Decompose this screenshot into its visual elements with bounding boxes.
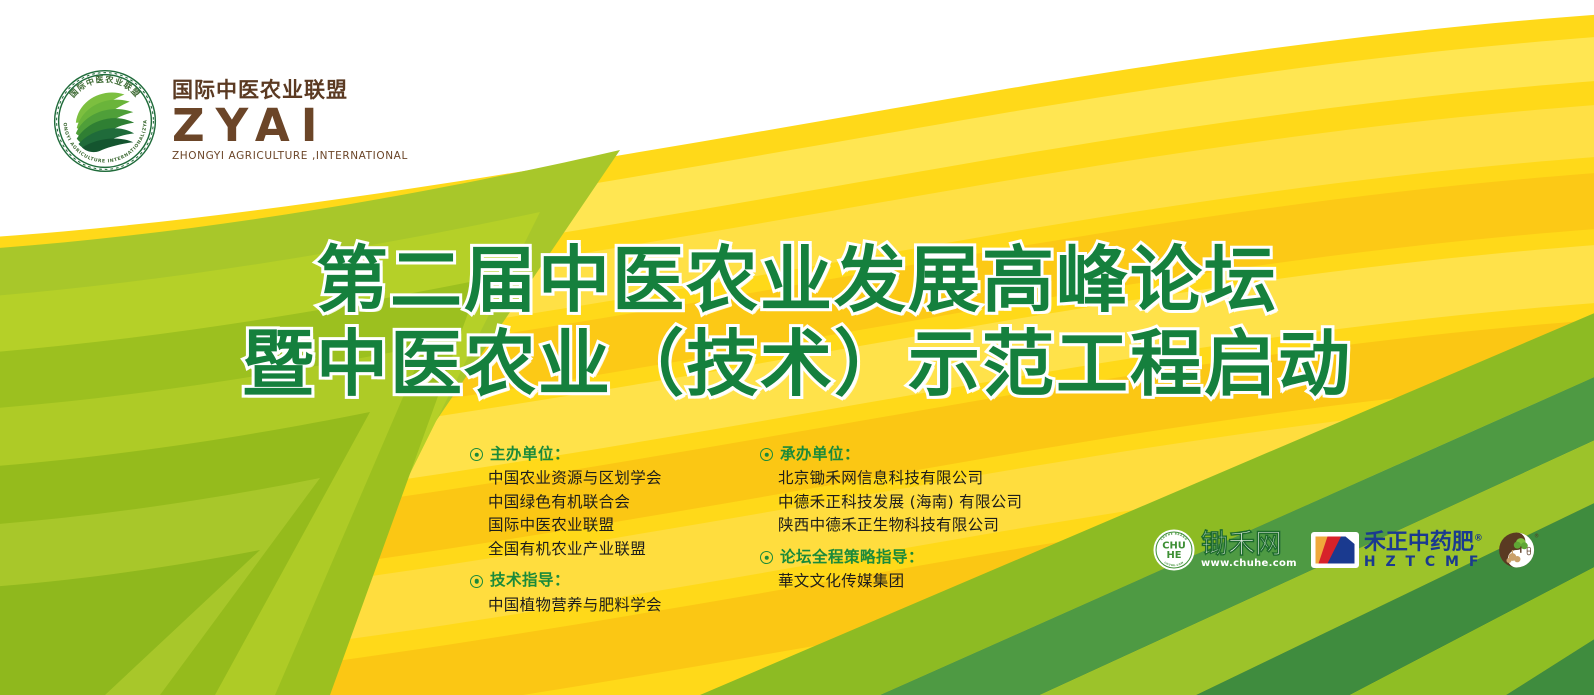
ring-bullet-icon (470, 575, 483, 588)
ring-bullet-icon (760, 448, 773, 461)
hz-z-stripe-mark-icon (1311, 532, 1359, 568)
tree-yinyang-seal-icon: ® (1497, 529, 1539, 571)
svg-text:HE: HE (1166, 550, 1181, 561)
credit-heading: 论坛全程策略指导： (760, 546, 1060, 569)
credit-item: 全国有机农业产业联盟 (488, 538, 720, 562)
zyai-circular-seal-icon: 国际中医农业联盟 ZHONGYI AGRICULTURE INTERNATION… (52, 68, 158, 174)
credit-item-list: 華文文化传媒集团 (778, 570, 1060, 594)
registered-mark-icon: ® (1474, 533, 1483, 543)
credit-item: 国际中医农业联盟 (488, 514, 720, 538)
credit-heading: 主办单位： (470, 443, 720, 466)
hztcmf-wordmark: 禾正中药肥® H Z T C M F (1364, 532, 1483, 569)
credit-item: 中国农业资源与区划学会 (488, 467, 720, 491)
credit-group: 主办单位： 中国农业资源与区划学会 中国绿色有机联合会 国际中医农业联盟 全国有… (470, 443, 720, 561)
credit-heading: 技术指导： (470, 569, 720, 592)
credit-heading-label: 技术指导： (490, 569, 570, 592)
credits-column-right: 承办单位： 北京锄禾网信息科技有限公司 中德禾正科技发展 (海南) 有限公司 陕… (760, 443, 1060, 625)
org-abbr: ZYAI (172, 103, 408, 149)
sponsor-logo-hztcmf: 禾正中药肥® H Z T C M F (1311, 532, 1483, 569)
credit-group: 技术指导： 中国植物营养与肥料学会 (470, 569, 720, 617)
credit-item-list: 中国植物营养与肥料学会 (488, 594, 720, 618)
conference-banner: 国际中医农业联盟 ZHONGYI AGRICULTURE INTERNATION… (0, 0, 1594, 695)
credit-heading-label: 论坛全程策略指导： (780, 546, 924, 569)
org-name-en: ZHONGYI AGRICULTURE ,INTERNATIONAL (172, 151, 408, 162)
organization-logo: 国际中医农业联盟 ZHONGYI AGRICULTURE INTERNATION… (52, 68, 408, 174)
hztcmf-name-cn: 禾正中药肥® (1364, 532, 1483, 554)
credit-heading-label: 承办单位： (780, 443, 860, 466)
sponsor-logo-row: CHU HE CHUHE BRAND CHUHE.COM 锄禾网 www.chu… (1152, 528, 1539, 572)
sponsor-logo-chuhe: CHU HE CHUHE BRAND CHUHE.COM 锄禾网 www.chu… (1152, 528, 1297, 572)
credit-item: 中德禾正科技发展 (海南) 有限公司 (778, 491, 1060, 515)
credit-item: 中国绿色有机联合会 (488, 491, 720, 515)
chuhe-wordmark: 锄禾网 www.chuhe.com (1201, 531, 1297, 569)
chuhe-url: www.chuhe.com (1201, 559, 1297, 569)
chuhe-name-cn: 锄禾网 (1201, 531, 1297, 558)
credit-item-list: 中国农业资源与区划学会 中国绿色有机联合会 国际中医农业联盟 全国有机农业产业联… (488, 467, 720, 561)
credits-block: 主办单位： 中国农业资源与区划学会 中国绿色有机联合会 国际中医农业联盟 全国有… (470, 443, 1060, 625)
hztcmf-name-cn-text: 禾正中药肥 (1364, 530, 1474, 555)
hztcmf-name-en: H Z T C M F (1364, 555, 1483, 569)
credit-item: 北京锄禾网信息科技有限公司 (778, 467, 1060, 491)
organization-wordmark: 国际中医农业联盟 ZYAI ZHONGYI AGRICULTURE ,INTER… (172, 80, 408, 161)
credit-group: 论坛全程策略指导： 華文文化传媒集团 (760, 546, 1060, 594)
chuhe-circular-seal-icon: CHU HE CHUHE BRAND CHUHE.COM (1152, 528, 1196, 572)
sponsor-logo-tree-seal: ® (1497, 529, 1539, 571)
credit-item: 華文文化传媒集团 (778, 570, 1060, 594)
svg-text:®: ® (1534, 532, 1539, 539)
credit-heading: 承办单位： (760, 443, 1060, 466)
credit-group: 承办单位： 北京锄禾网信息科技有限公司 中德禾正科技发展 (海南) 有限公司 陕… (760, 443, 1060, 538)
ring-bullet-icon (470, 448, 483, 461)
org-name-cn: 国际中医农业联盟 (172, 80, 408, 101)
ring-bullet-icon (760, 551, 773, 564)
credit-item: 陕西中德禾正生物科技有限公司 (778, 514, 1060, 538)
credit-heading-label: 主办单位： (490, 443, 570, 466)
credit-item-list: 北京锄禾网信息科技有限公司 中德禾正科技发展 (海南) 有限公司 陕西中德禾正生… (778, 467, 1060, 538)
credit-item: 中国植物营养与肥料学会 (488, 594, 720, 618)
credits-column-left: 主办单位： 中国农业资源与区划学会 中国绿色有机联合会 国际中医农业联盟 全国有… (470, 443, 720, 625)
